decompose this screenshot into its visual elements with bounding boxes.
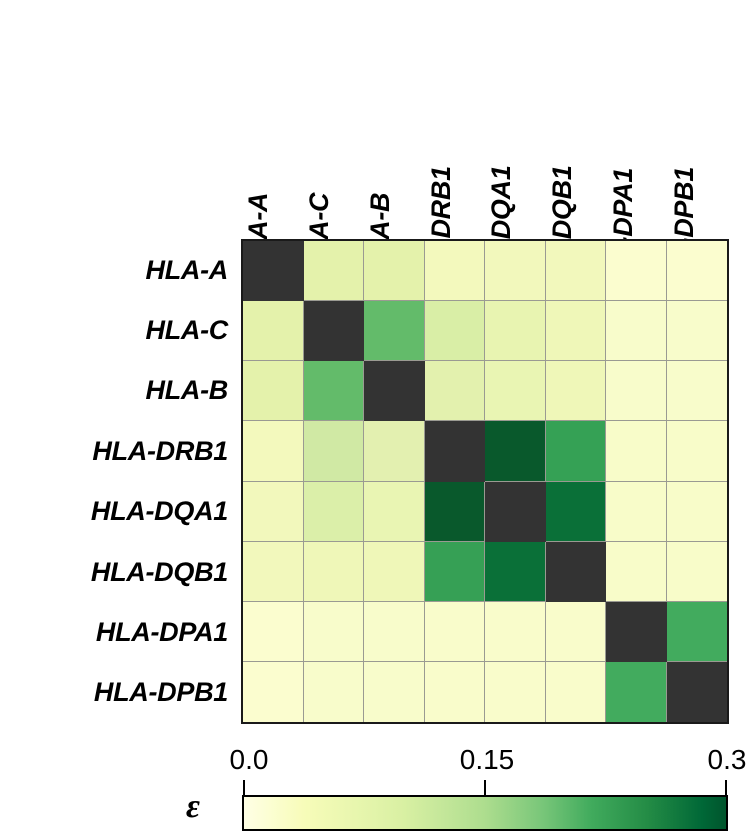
heatmap-cell bbox=[304, 301, 365, 361]
x-axis-tick-label: HLA-DPA1 bbox=[607, 0, 668, 238]
y-axis-tick-label: HLA-B bbox=[146, 361, 228, 421]
colorbar-ticklabel-max: 0.3 bbox=[708, 744, 747, 776]
x-axis-tick-label: HLA-B bbox=[364, 0, 425, 238]
heatmap-cell bbox=[485, 301, 546, 361]
x-axis-tick-label: HLA-DQA1 bbox=[485, 0, 546, 238]
x-axis-tick-label: HLA-A bbox=[242, 0, 303, 238]
x-axis-tick-label: HLA-DRB1 bbox=[424, 0, 485, 238]
colorbar-ticklabel-min: 0.0 bbox=[230, 744, 269, 776]
heatmap-cell bbox=[546, 602, 607, 662]
heatmap-cell bbox=[364, 241, 425, 301]
heatmap-cell bbox=[485, 361, 546, 421]
heatmap-cell bbox=[606, 542, 667, 602]
heatmap-cell bbox=[606, 301, 667, 361]
heatmap-grid bbox=[243, 241, 727, 722]
heatmap-cell bbox=[425, 482, 486, 542]
heatmap-cell bbox=[304, 662, 365, 722]
heatmap-cell bbox=[667, 482, 728, 542]
heatmap-cell bbox=[546, 662, 607, 722]
y-axis-tick-label: HLA-DQA1 bbox=[91, 482, 228, 542]
heatmap-cell bbox=[364, 361, 425, 421]
colorbar-legend: ε 0.0 0.15 0.3 bbox=[0, 740, 750, 836]
heatmap-cell bbox=[364, 542, 425, 602]
heatmap-cell bbox=[606, 361, 667, 421]
heatmap-cell bbox=[667, 241, 728, 301]
heatmap-cell bbox=[364, 301, 425, 361]
heatmap-cell bbox=[243, 542, 304, 602]
heatmap-cell bbox=[243, 662, 304, 722]
heatmap-cell bbox=[546, 421, 607, 481]
heatmap-cell bbox=[304, 482, 365, 542]
x-axis-tick-label: HLA-DPB1 bbox=[667, 0, 728, 238]
y-axis-tick-label: HLA-DQB1 bbox=[91, 542, 228, 602]
heatmap-cell bbox=[606, 662, 667, 722]
y-axis-tick-label: HLA-DPA1 bbox=[96, 602, 228, 662]
heatmap-cell bbox=[304, 241, 365, 301]
heatmap-cell bbox=[425, 542, 486, 602]
x-axis-tick-labels: HLA-AHLA-CHLA-BHLA-DRB1HLA-DQA1HLA-DQB1H… bbox=[242, 0, 728, 238]
colorbar-gradient bbox=[242, 795, 728, 831]
heatmap-cell bbox=[667, 542, 728, 602]
colorbar-tick-mid bbox=[484, 780, 486, 795]
heatmap-cell bbox=[243, 301, 304, 361]
colorbar-tick-max bbox=[725, 780, 727, 795]
heatmap-cell bbox=[425, 241, 486, 301]
heatmap-cell bbox=[546, 542, 607, 602]
heatmap-cell bbox=[243, 361, 304, 421]
heatmap-cell bbox=[425, 301, 486, 361]
heatmap-cell bbox=[485, 241, 546, 301]
heatmap-cell bbox=[667, 301, 728, 361]
heatmap-cell bbox=[606, 241, 667, 301]
heatmap-cell bbox=[304, 602, 365, 662]
heatmap-cell bbox=[485, 482, 546, 542]
y-axis-tick-label: HLA-DPB1 bbox=[94, 663, 228, 723]
heatmap-cell bbox=[485, 542, 546, 602]
heatmap-cell bbox=[485, 602, 546, 662]
heatmap-cell bbox=[364, 602, 425, 662]
heatmap-cell bbox=[243, 482, 304, 542]
x-axis-tick-label: HLA-DQB1 bbox=[546, 0, 607, 238]
heatmap-cell bbox=[606, 602, 667, 662]
heatmap-cell bbox=[304, 361, 365, 421]
heatmap-cell bbox=[243, 602, 304, 662]
heatmap-cell bbox=[304, 542, 365, 602]
heatmap-cell bbox=[606, 482, 667, 542]
colorbar-axis-label: ε bbox=[186, 790, 200, 824]
x-axis-tick-label: HLA-C bbox=[303, 0, 364, 238]
heatmap-cell bbox=[667, 361, 728, 421]
heatmap-cell bbox=[425, 421, 486, 481]
heatmap-cell bbox=[667, 421, 728, 481]
heatmap-cell bbox=[546, 301, 607, 361]
heatmap-cell bbox=[546, 482, 607, 542]
y-axis-tick-labels: HLA-AHLA-CHLA-BHLA-DRB1HLA-DQA1HLA-DQB1H… bbox=[0, 240, 238, 723]
heatmap-figure: HLA-AHLA-CHLA-BHLA-DRB1HLA-DQA1HLA-DQB1H… bbox=[0, 0, 750, 836]
heatmap-cell bbox=[304, 421, 365, 481]
y-axis-tick-label: HLA-DRB1 bbox=[92, 421, 228, 481]
heatmap-cell bbox=[364, 482, 425, 542]
heatmap-cell bbox=[364, 421, 425, 481]
heatmap-cell bbox=[364, 662, 425, 722]
heatmap-cell bbox=[425, 662, 486, 722]
heatmap-cell bbox=[667, 602, 728, 662]
heatmap-cell bbox=[425, 361, 486, 421]
heatmap-cell bbox=[425, 602, 486, 662]
y-axis-tick-label: HLA-A bbox=[146, 240, 228, 300]
heatmap-cell bbox=[485, 662, 546, 722]
heatmap-cell bbox=[546, 241, 607, 301]
heatmap-cell bbox=[606, 421, 667, 481]
heatmap-cell bbox=[667, 662, 728, 722]
heatmap-cell bbox=[546, 361, 607, 421]
heatmap-cell bbox=[243, 241, 304, 301]
heatmap-cell bbox=[243, 421, 304, 481]
colorbar-ticklabel-mid: 0.15 bbox=[460, 744, 515, 776]
heatmap-plot-area bbox=[241, 239, 729, 724]
colorbar-tick-min bbox=[243, 780, 245, 795]
y-axis-tick-label: HLA-C bbox=[146, 300, 228, 360]
heatmap-cell bbox=[485, 421, 546, 481]
